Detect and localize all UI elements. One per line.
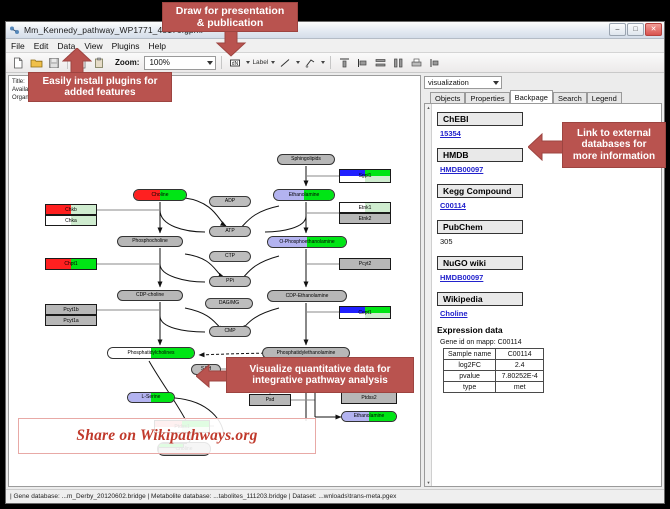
callout-arrow-up-plugins (62, 48, 92, 74)
cofactor-node[interactable]: ADP (209, 196, 251, 207)
zoom-label: Zoom: (115, 58, 139, 67)
section-heading-hmdb: HMDB (437, 148, 523, 162)
visualization-row: visualization (424, 75, 662, 90)
cofactor-node[interactable]: CTP (209, 251, 251, 262)
callout-arrow-left-visualize (196, 364, 230, 388)
metabolite-node[interactable]: CDP-Ethanolamine (267, 290, 347, 302)
wikipedia-link[interactable]: Choline (440, 309, 655, 318)
tab-search[interactable]: Search (553, 92, 587, 103)
open-folder-icon[interactable] (28, 55, 44, 71)
zoom-value: 100% (149, 58, 169, 67)
save-disk-icon[interactable] (46, 55, 62, 71)
toolbar: Zoom: 100% dN Label (6, 53, 664, 73)
gene-node[interactable]: Etnk2 (339, 213, 391, 224)
new-document-icon[interactable] (10, 55, 26, 71)
callout-share-on-wikipathways: Share on Wikipathways.org (18, 418, 316, 454)
align-top-icon[interactable] (336, 55, 352, 71)
cofactor-node[interactable]: DAG/MG (205, 298, 253, 309)
gene-node[interactable]: Chkb (45, 204, 97, 215)
section-heading-nugo: NuGO wiki (437, 256, 523, 270)
tab-backpage[interactable]: Backpage (510, 90, 553, 103)
gene-node[interactable]: Ptdss2 (341, 392, 397, 404)
close-button[interactable]: ✕ (645, 23, 662, 36)
section-heading-pubchem: PubChem (437, 220, 523, 234)
gene-id-line: Gene id on mapp: C00114 (440, 339, 655, 346)
metabolite-node[interactable]: Phosphocholine (117, 236, 183, 247)
tab-objects[interactable]: Objects (430, 92, 465, 103)
expression-data-title: Expression data (437, 325, 655, 335)
table-row: Sample name C00114 (444, 349, 544, 360)
scroll-up-icon[interactable]: ▲ (426, 105, 431, 110)
shape-tool-icon[interactable] (302, 55, 318, 71)
section-heading-wikipedia: Wikipedia (437, 292, 523, 306)
menu-item-plugins[interactable]: Plugins (112, 41, 140, 51)
common-width-icon[interactable] (390, 55, 406, 71)
align-left-icon[interactable] (354, 55, 370, 71)
menu-bar: File Edit Data View Plugins Help (6, 39, 664, 53)
callout-draw-for-publication: Draw for presentation & publication (162, 2, 298, 32)
maximize-button[interactable]: □ (627, 23, 644, 36)
table-row: log2FC 2.4 (444, 360, 544, 371)
table-cell-label: pvalue (444, 371, 496, 382)
metabolite-node[interactable]: Sphingolipids (277, 154, 335, 165)
gene-node[interactable]: Psd (249, 394, 291, 406)
zoom-select[interactable]: 100% (144, 56, 216, 70)
kegg-link[interactable]: C00114 (440, 201, 655, 210)
pathvisio-app-icon (9, 25, 20, 36)
gene-node[interactable]: Pcyt1a (45, 315, 97, 326)
table-cell-value: 2.4 (496, 360, 544, 371)
section-heading-kegg: Kegg Compound (437, 184, 523, 198)
line-tool-icon[interactable] (277, 55, 293, 71)
status-text: | Gene database: ...m_Derby_20120602.bri… (10, 493, 396, 500)
table-cell-value: 7.80252E-4 (496, 371, 544, 382)
metabolite-node[interactable]: Ethanolamine (341, 411, 397, 422)
metabolite-node[interactable]: Ethanolamine (273, 189, 335, 201)
table-cell-label: type (444, 382, 496, 393)
status-bar: | Gene database: ...m_Derby_20120602.bri… (6, 489, 664, 503)
nugo-link[interactable]: HMDB00097 (440, 273, 655, 282)
title-bar: Mm_Kennedy_pathway_WP1771_45176.gpml – □… (6, 22, 664, 39)
callout-easily-install-plugins: Easily install plugins for added feature… (28, 72, 172, 102)
table-cell-label: log2FC (444, 360, 496, 371)
tab-legend[interactable]: Legend (587, 92, 622, 103)
menu-item-help[interactable]: Help (149, 41, 166, 51)
stack-icon[interactable] (426, 55, 442, 71)
table-row: pvalue 7.80252E-4 (444, 371, 544, 382)
share-text: Share on Wikipathways.org (76, 427, 257, 445)
sidebar-tabs: Objects Properties Backpage Search Legen… (424, 90, 662, 103)
gene-node[interactable]: Pcyt2 (339, 258, 391, 270)
label-button[interactable]: Label (252, 59, 268, 66)
table-cell-value: met (496, 382, 544, 393)
table-cell-value: C00114 (496, 349, 544, 360)
callout-visualize-quantitative-data: Visualize quantitative data for integrat… (226, 357, 414, 393)
print-icon[interactable] (408, 55, 424, 71)
callout-arrow-down-draw (215, 31, 247, 57)
section-heading-chebi: ChEBI (437, 112, 523, 126)
chevron-down-icon (207, 61, 213, 65)
tab-properties[interactable]: Properties (465, 92, 509, 103)
paste-icon[interactable] (91, 55, 107, 71)
pubchem-value: 305 (440, 237, 655, 246)
panel-scrollbar[interactable]: ▲ ▼ (425, 104, 432, 486)
expression-data-table: Sample name C00114 log2FC 2.4 pvalue 7.8… (443, 348, 544, 393)
label-chevron-icon[interactable] (271, 61, 275, 64)
datanode-chevron-icon[interactable] (246, 61, 250, 64)
cofactor-node[interactable]: ATP (209, 226, 251, 237)
gene-node[interactable]: Sgpl1 (339, 169, 391, 183)
callout-link-to-databases: Link to external databases for more info… (562, 122, 666, 168)
cofactor-node[interactable]: PPi (209, 276, 251, 287)
svg-text:dN: dN (232, 61, 239, 67)
table-row: type met (444, 382, 544, 393)
minimize-button[interactable]: – (609, 23, 626, 36)
metabolite-node[interactable]: O-Phosphoethanolamine (267, 236, 347, 248)
gene-node[interactable]: Chka (45, 215, 97, 226)
visualization-select[interactable]: visualization (424, 76, 502, 89)
cofactor-node[interactable]: CMP (209, 326, 251, 337)
gene-node[interactable]: Etnk1 (339, 202, 391, 213)
distribute-vertical-icon[interactable] (372, 55, 388, 71)
line-chevron-icon[interactable] (296, 61, 300, 64)
chevron-down-icon (493, 81, 499, 85)
gene-node[interactable]: Pcyt1b (45, 304, 97, 315)
window-buttons: – □ ✕ (609, 23, 662, 36)
shape-chevron-icon[interactable] (321, 61, 325, 64)
metabolite-node[interactable]: CDP-choline (117, 290, 183, 301)
metabolite-node[interactable]: L-Serine (127, 392, 175, 403)
table-cell-label: Sample name (444, 349, 496, 360)
callout-arrow-left-databases (528, 133, 564, 161)
toolbar-separator-3 (330, 56, 331, 69)
menu-item-file[interactable]: File (11, 41, 25, 51)
metabolite-node[interactable]: Choline (133, 189, 187, 201)
gene-node[interactable]: Cept1 (339, 306, 391, 319)
toolbar-separator-2 (221, 56, 222, 69)
visualization-value: visualization (428, 78, 469, 87)
metabolite-node[interactable]: Phosphatidylcholines (107, 347, 195, 359)
scroll-down-icon[interactable]: ▼ (426, 480, 431, 485)
menu-item-edit[interactable]: Edit (34, 41, 49, 51)
gene-node[interactable]: Chpt1 (45, 258, 97, 270)
